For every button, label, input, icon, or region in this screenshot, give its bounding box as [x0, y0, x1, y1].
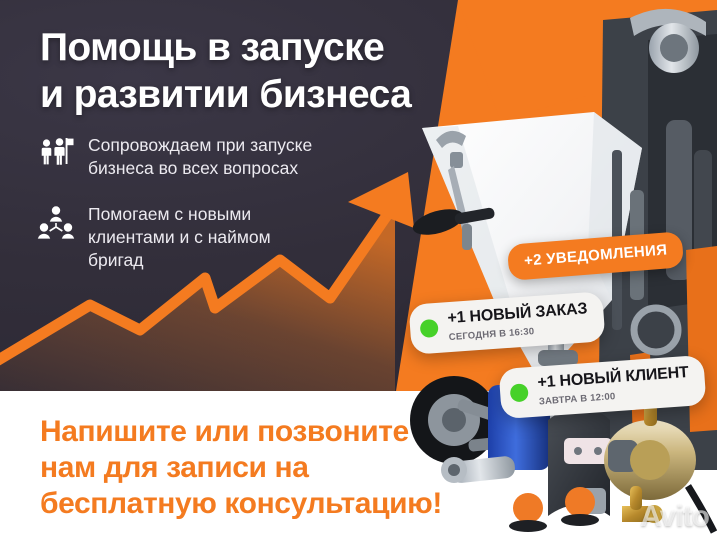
call-to-action-text: Напишите или позвоните нам для записи на…: [40, 414, 500, 522]
list-item: Сопровождаем при запуске бизнеса во всех…: [36, 133, 366, 180]
page-title: Помощь в запуске и развитии бизнеса: [40, 24, 460, 118]
advertisement-banner: Помощь в запуске и развитии бизнеса: [0, 0, 717, 540]
list-item-label: Помогаем с новыми клиентами и с наймом б…: [88, 202, 271, 272]
green-status-dot-icon: [510, 383, 529, 402]
feature-list: Сопровождаем при запуске бизнеса во всех…: [36, 133, 366, 294]
status-badge-title: +2 УВЕДОМЛЕНИЯ: [524, 241, 668, 269]
green-status-dot-icon: [420, 318, 439, 337]
team-group-icon: [36, 202, 76, 242]
list-item: Помогаем с новыми клиентами и с наймом б…: [36, 202, 366, 272]
avito-watermark: Avito: [640, 500, 709, 534]
people-flag-icon: [36, 133, 76, 173]
list-item-label: Сопровождаем при запуске бизнеса во всех…: [88, 133, 312, 180]
dark-background-panel: Помощь в запуске и развитии бизнеса: [0, 0, 717, 391]
